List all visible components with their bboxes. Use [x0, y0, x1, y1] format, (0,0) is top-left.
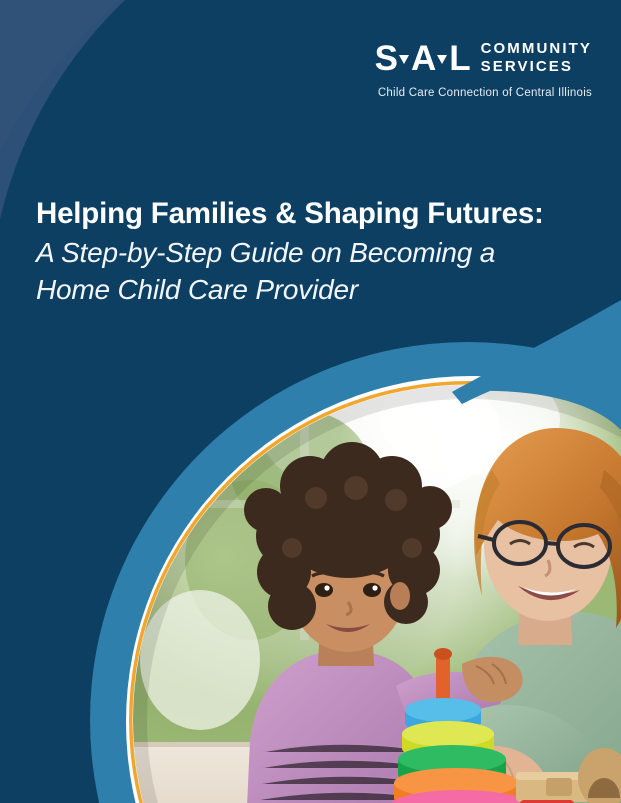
sal-letter-a: A: [411, 41, 435, 76]
cover-photograph: [120, 360, 621, 803]
sal-letter-l: L: [449, 41, 469, 76]
sal-letter-s: S: [375, 41, 397, 76]
triangle-separator-icon: [437, 55, 447, 64]
page-subtitle-line-1: A Step-by-Step Guide on Becoming a: [36, 235, 596, 272]
wordmark-line-community: COMMUNITY: [481, 40, 592, 58]
cover-title-block: Helping Families & Shaping Futures: A St…: [36, 197, 596, 309]
triangle-separator-icon: [399, 55, 409, 64]
toy-knob: [434, 648, 452, 660]
logo-wordmark: COMMUNITY SERVICES: [481, 40, 592, 77]
brand-tagline: Child Care Connection of Central Illinoi…: [375, 87, 592, 99]
page-subtitle-line-2: Home Child Care Provider: [36, 272, 596, 309]
photo-medallion: [0, 0, 621, 803]
wordmark-line-services: SERVICES: [481, 58, 592, 76]
brand-logo: S A L COMMUNITY SERVICES Child Care Conn…: [375, 40, 592, 99]
sal-lettermark: S A L: [375, 41, 470, 76]
logo-row: S A L COMMUNITY SERVICES: [375, 40, 592, 77]
page-title: Helping Families & Shaping Futures:: [36, 197, 596, 231]
cover-page: S A L COMMUNITY SERVICES Child Care Conn…: [0, 0, 621, 803]
